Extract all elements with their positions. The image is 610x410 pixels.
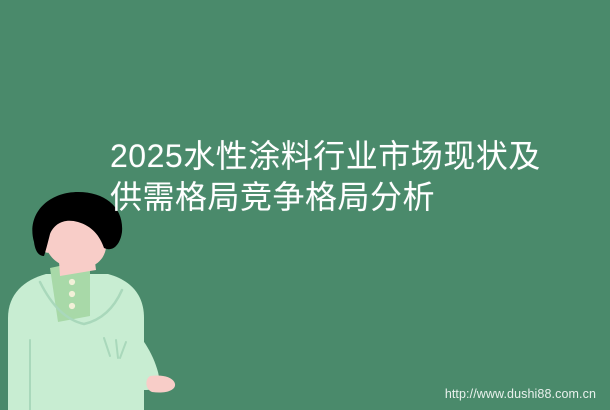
- person-illustration: [0, 190, 200, 410]
- page-title: 2025水性涂料行业市场现状及供需格局竞争格局分析: [110, 136, 550, 218]
- collar-button-top: [69, 279, 75, 285]
- collar-button-bottom: [69, 303, 75, 309]
- collar-button-middle: [69, 291, 75, 297]
- banner: 2025水性涂料行业市场现状及供需格局竞争格局分析 http://www.dus…: [0, 0, 610, 410]
- hand: [146, 375, 175, 392]
- watermark-url: http://www.dushi88.com.cn: [445, 387, 596, 401]
